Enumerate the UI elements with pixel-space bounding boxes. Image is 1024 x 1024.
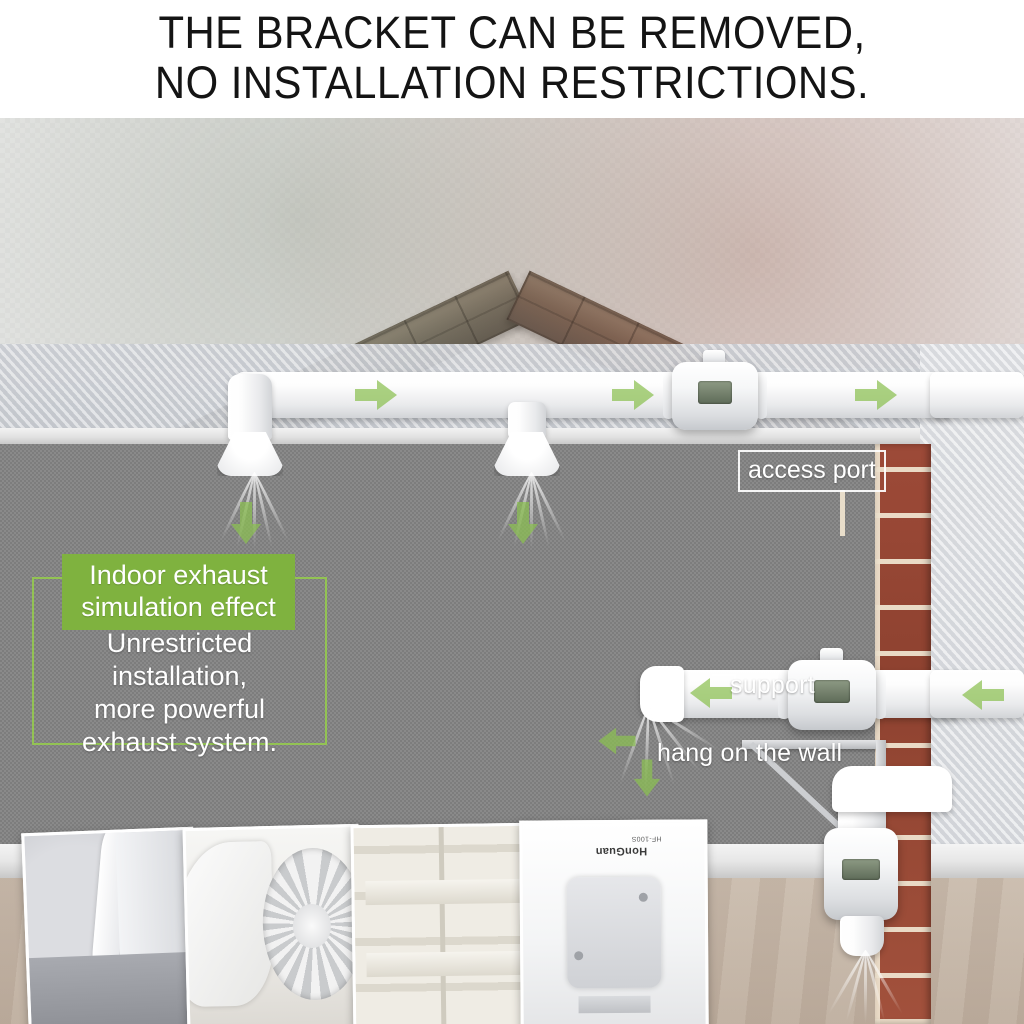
callout-body-line-2: installation, <box>34 660 325 693</box>
wall-penetration-duct-top <box>930 372 1024 418</box>
brick-course-offset <box>840 490 896 536</box>
brand-model-text: HF-100S <box>632 835 662 842</box>
callout-body: Unrestricted installation, more powerful… <box>34 627 325 759</box>
ceiling-duct-horizontal <box>236 372 952 418</box>
page-title: THE BRACKET CAN BE REMOVED, NO INSTALLAT… <box>0 8 1024 108</box>
fan-label-plate <box>842 859 880 879</box>
callout-body-line-4: exhaust system. <box>34 726 325 759</box>
headline-line-1: THE BRACKET CAN BE REMOVED, <box>36 8 988 58</box>
inline-fan-vertical <box>824 828 898 920</box>
thumb-image <box>24 830 197 1024</box>
fan-label-plate <box>698 381 732 404</box>
diffuser-arrow-2 <box>506 502 540 544</box>
thumb-image <box>186 827 361 1024</box>
inline-fan-ceiling <box>672 362 758 430</box>
brand-name-text: HonGuan <box>595 845 647 857</box>
fan-label-plate <box>814 680 849 704</box>
duct-arrow-top-2 <box>612 378 654 412</box>
thumb-bracket-plate[interactable] <box>351 823 538 1024</box>
callout-body-line-1: Unrestricted <box>34 627 325 660</box>
product-infographic: THE BRACKET CAN BE REMOVED, NO INSTALLAT… <box>0 0 1024 1024</box>
thumb-impeller[interactable] <box>183 824 364 1024</box>
access-port-label: access port <box>738 450 886 492</box>
installation-scene: access port support hang on the wall Unr… <box>0 118 1024 1024</box>
stone-gable-roof <box>0 118 1024 368</box>
callout-body-line-3: more powerful <box>34 693 325 726</box>
callout-badge: Indoor exhaust simulation effect <box>62 554 295 630</box>
wall-exit-arrow-top <box>855 378 897 412</box>
support-label: support <box>730 670 815 700</box>
mid-duct-elbow <box>640 666 684 722</box>
ceiling-duct-drop-left <box>228 374 272 440</box>
bottom-duct-outlet <box>840 916 884 956</box>
bottom-duct-elbow <box>832 766 952 812</box>
diffuser-arrow-1 <box>229 502 263 544</box>
thumb-branded-unit[interactable]: HF-100S HonGuan <box>519 819 708 1024</box>
duct-arrow-top-1 <box>355 378 397 412</box>
thumb-housing-detail[interactable] <box>21 827 201 1024</box>
roof-color-tint <box>0 118 1024 368</box>
wall-exit-arrow-mid <box>962 678 1004 712</box>
thumb-image <box>354 826 535 1024</box>
hang-on-the-wall-label: hang on the wall <box>657 738 842 768</box>
mid-spray-arrow-1 <box>598 726 636 756</box>
thumb-image: HF-100S HonGuan <box>522 822 705 1024</box>
headline-line-2: NO INSTALLATION RESTRICTIONS. <box>36 58 988 108</box>
